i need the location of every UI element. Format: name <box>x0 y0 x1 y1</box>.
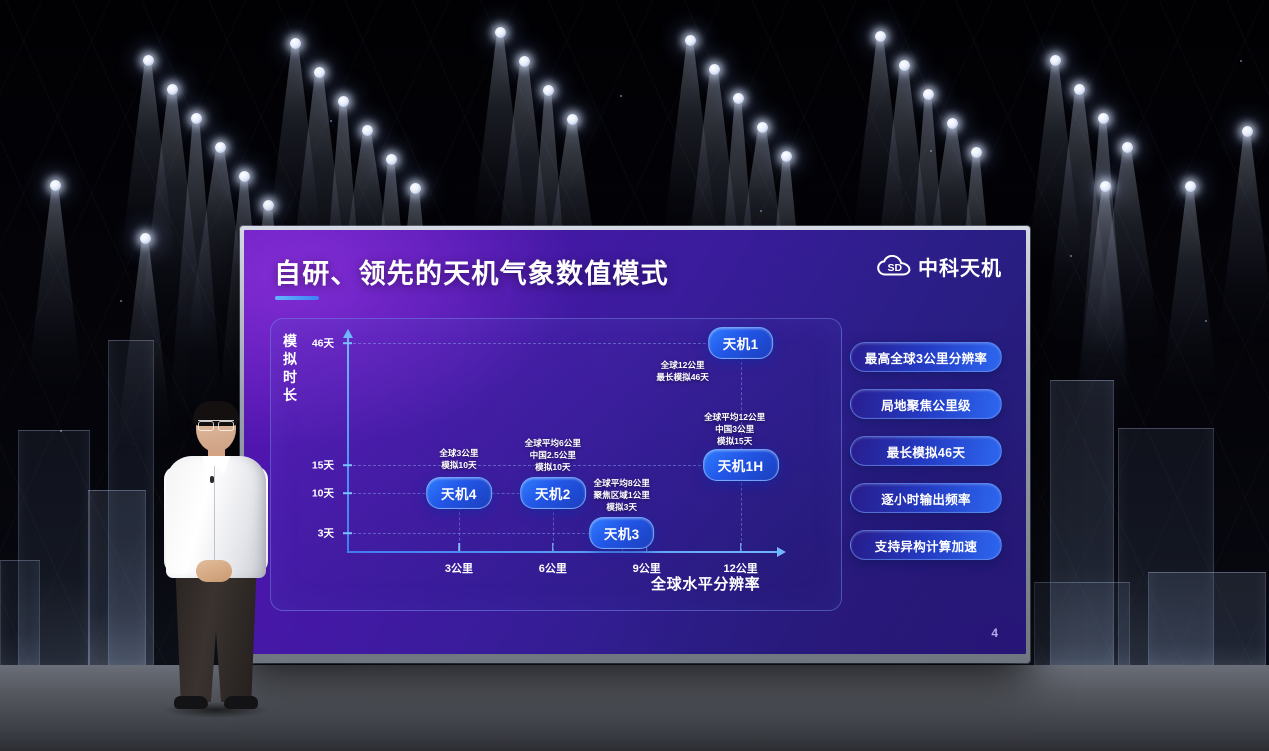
chart-node-note-天机1H: 全球平均12公里中国3公里模拟15天 <box>704 411 765 448</box>
chart-node-天机1[interactable]: 天机1 <box>708 327 774 359</box>
spotlight-lamp <box>1242 126 1253 137</box>
spotlight-lamp <box>947 118 958 129</box>
x-axis-label: 全球水平分辨率 <box>651 573 760 594</box>
light-speck <box>760 210 762 212</box>
y-axis-tick-mark <box>343 532 352 534</box>
chart-card: 模拟时长 全球水平分辨率 46天15天10天3天3公里6公里9公里12公里天机4… <box>270 318 842 611</box>
light-speck <box>60 430 62 432</box>
spotlight-lamp <box>50 180 61 191</box>
presenter-trousers <box>174 576 258 702</box>
y-axis-tick-label: 10天 <box>312 486 334 501</box>
spotlight-lamp <box>338 96 349 107</box>
light-speck <box>120 300 122 302</box>
slide: 自研、领先的天机气象数值模式 SD 中科天机 模拟时长 <box>244 230 1026 654</box>
spotlight-lamp <box>519 56 530 67</box>
y-axis-arrow <box>343 329 353 338</box>
svg-text:SD: SD <box>888 262 903 274</box>
node-note-line: 全球12公里 <box>656 359 709 371</box>
node-note-line: 全球平均12公里 <box>704 411 765 423</box>
node-note-line: 全球平均8公里 <box>594 477 650 489</box>
node-connector-line <box>553 502 554 551</box>
spotlight-lamp <box>140 233 151 244</box>
presenter <box>158 404 274 720</box>
grid-line <box>353 343 741 344</box>
spotlight-lamp <box>239 171 250 182</box>
spotlight-lamp <box>167 84 178 95</box>
slide-page-number: 4 <box>991 626 998 640</box>
node-note-line: 聚焦区域1公里 <box>594 489 650 501</box>
spotlight-lamp <box>923 89 934 100</box>
chart-node-天机4[interactable]: 天机4 <box>426 477 492 509</box>
spotlight-lamp <box>757 122 768 133</box>
presenter-placket <box>214 466 215 570</box>
stage-scene: 自研、领先的天机气象数值模式 SD 中科天机 模拟时长 <box>0 0 1269 751</box>
x-axis-tick-label: 3公里 <box>445 560 473 576</box>
node-note-line: 模拟3天 <box>594 501 650 513</box>
x-axis-tick-label: 9公里 <box>633 560 661 576</box>
chart-node-note-天机4: 全球3公里模拟10天 <box>439 447 478 471</box>
spotlight-lamp <box>971 147 982 158</box>
feature-list: 最高全球3公里分辨率局地聚焦公里级最长模拟46天逐小时输出频率支持异构计算加速 <box>850 342 1002 560</box>
spotlight-lamp <box>1100 181 1111 192</box>
node-note-line: 全球3公里 <box>439 447 478 459</box>
spotlight-lamp <box>781 151 792 162</box>
spotlight-lamp <box>290 38 301 49</box>
x-axis-arrow <box>777 547 786 557</box>
y-axis-line <box>347 337 349 553</box>
light-speck <box>930 150 932 152</box>
spotlight-lamp <box>1050 55 1061 66</box>
light-speck <box>1070 255 1072 257</box>
spotlight-lamp <box>543 85 554 96</box>
node-connector-line <box>459 502 460 551</box>
chart-node-note-天机1: 全球12公里最长模拟46天 <box>656 359 709 383</box>
chart-node-天机1H[interactable]: 天机1H <box>703 449 779 481</box>
feature-pill-2[interactable]: 局地聚焦公里级 <box>850 389 1002 419</box>
presenter-hands <box>196 560 232 582</box>
presenter-glasses <box>198 420 234 428</box>
y-axis-tick-label: 15天 <box>312 458 334 473</box>
y-axis-tick-mark <box>343 342 352 344</box>
spotlight-lamp <box>314 67 325 78</box>
light-speck <box>330 120 332 122</box>
x-axis-line <box>347 551 779 553</box>
feature-pill-4[interactable]: 逐小时输出频率 <box>850 483 1002 513</box>
chart-node-天机2[interactable]: 天机2 <box>520 477 586 509</box>
light-speck <box>1240 60 1242 62</box>
cloud-sd-logo-icon: SD <box>877 255 911 278</box>
spotlight-lamp <box>567 114 578 125</box>
light-speck <box>620 95 622 97</box>
y-axis-tick-mark <box>343 464 352 466</box>
node-note-line: 模拟10天 <box>525 461 581 473</box>
spotlight-lamp <box>143 55 154 66</box>
resolution-vs-leadtime-chart: 模拟时长 全球水平分辨率 46天15天10天3天3公里6公里9公里12公里天机4… <box>271 319 841 610</box>
x-axis-tick-label: 12公里 <box>724 560 758 576</box>
spotlight-lamp <box>1098 113 1109 124</box>
node-note-line: 中国3公里 <box>704 423 765 435</box>
spotlight-lamp <box>410 183 421 194</box>
spotlight-lamp <box>709 64 720 75</box>
spotlight-lamp <box>386 154 397 165</box>
spotlight-lamp <box>875 31 886 42</box>
page-title: 自研、领先的天机气象数值模式 <box>274 252 669 291</box>
presentation-screen: 自研、领先的天机气象数值模式 SD 中科天机 模拟时长 <box>240 226 1030 663</box>
presenter-shoe-right <box>224 696 258 709</box>
y-axis-tick-label: 46天 <box>312 336 334 351</box>
chart-node-天机3[interactable]: 天机3 <box>589 517 655 549</box>
chart-node-note-天机3: 全球平均8公里聚焦区域1公里模拟3天 <box>594 477 650 514</box>
y-axis-tick-mark <box>343 492 352 494</box>
presenter-shoe-left <box>174 696 208 709</box>
title-underline <box>275 296 319 300</box>
feature-pill-5[interactable]: 支持异构计算加速 <box>850 530 1002 560</box>
spotlight-lamp <box>191 113 202 124</box>
node-note-line: 模拟15天 <box>704 435 765 447</box>
spotlight-lamp <box>1122 142 1133 153</box>
x-axis-tick-label: 6公里 <box>539 560 567 576</box>
presenter-microphone <box>210 476 214 483</box>
spotlight-lamp <box>685 35 696 46</box>
spotlight-lamp <box>1074 84 1085 95</box>
spotlight-lamp <box>899 60 910 71</box>
spotlight-lamp <box>1185 181 1196 192</box>
spotlight-lamp <box>215 142 226 153</box>
node-note-line: 模拟10天 <box>439 459 478 471</box>
spotlight-lamp <box>733 93 744 104</box>
y-axis-tick-label: 3天 <box>318 526 334 541</box>
spotlight-lamp <box>495 27 506 38</box>
node-note-line: 全球平均6公里 <box>525 437 581 449</box>
brand-name: 中科天机 <box>918 252 1002 281</box>
y-axis-label: 模拟时长 <box>281 333 299 405</box>
chart-node-note-天机2: 全球平均6公里中国2.5公里模拟10天 <box>525 437 581 474</box>
feature-pill-3[interactable]: 最长模拟46天 <box>850 436 1002 466</box>
spotlight-lamp <box>362 125 373 136</box>
grid-line <box>353 533 600 534</box>
node-note-line: 最长模拟46天 <box>656 371 709 383</box>
spotlight-lamp <box>263 200 274 211</box>
brand-logo: SD 中科天机 <box>877 252 1002 281</box>
node-note-line: 中国2.5公里 <box>525 449 581 461</box>
light-speck <box>1205 320 1207 322</box>
feature-pill-1[interactable]: 最高全球3公里分辨率 <box>850 342 1002 372</box>
